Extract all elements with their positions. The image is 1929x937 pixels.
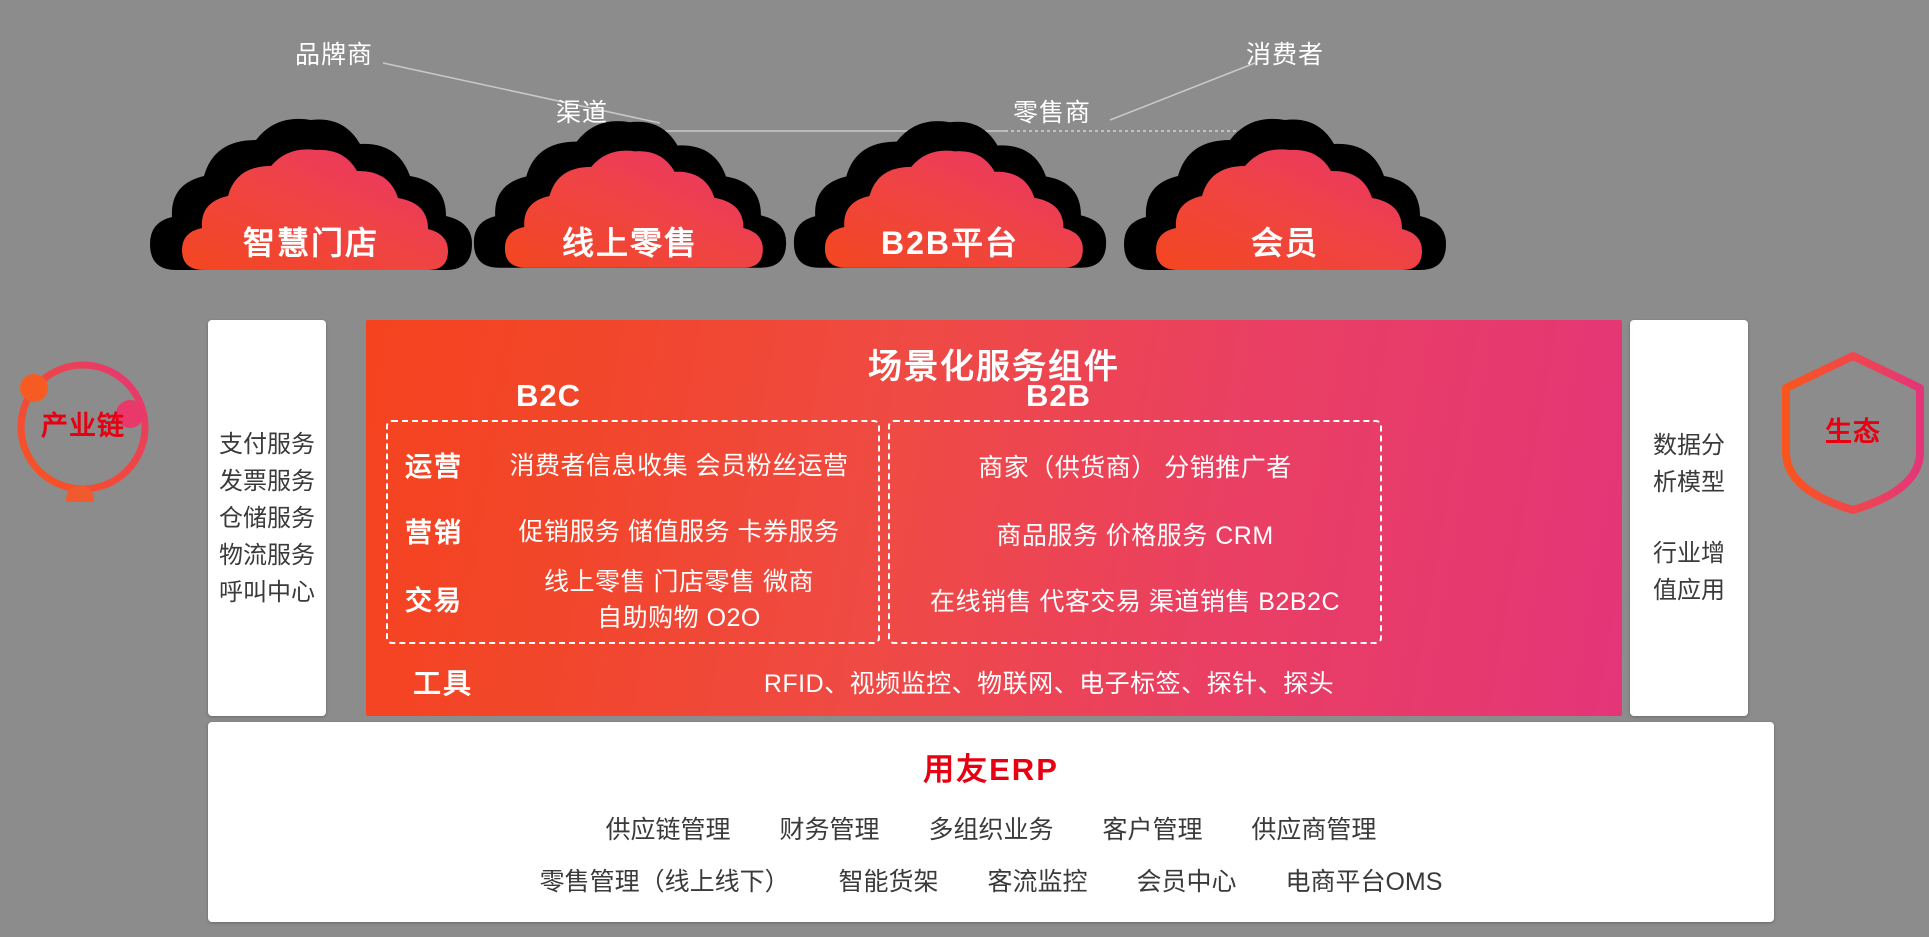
cloud-online-retail[interactable]: 线上零售 xyxy=(470,118,790,270)
erp-item: 财务管理 xyxy=(780,816,880,844)
ecosystem-label: 生态 xyxy=(1778,410,1928,449)
tools-row: 工具 RFID、视频监控、物联网、电子标签、探针、探头 xyxy=(388,662,1600,702)
erp-row-2: 零售管理（线上线下） 智能货架 客流监控 会员中心 电商平台OMS xyxy=(208,862,1774,898)
erp-panel: 用友ERP 供应链管理 财务管理 多组织业务 客户管理 供应商管理 零售管理（线… xyxy=(208,722,1774,922)
right-panel-item: 数据分 xyxy=(1630,427,1748,464)
right-panel-item: 值应用 xyxy=(1630,572,1748,609)
b2b-dashed-box: 商家（供货商） 分销推广者 商品服务 价格服务 CRM 在线销售 代客交易 渠道… xyxy=(888,420,1382,644)
cloud-shape xyxy=(1110,118,1460,270)
ecosystem-badge: 生态 xyxy=(1778,348,1928,516)
erp-item: 客流监控 xyxy=(988,868,1088,896)
left-panel-item: 发票服务 xyxy=(208,463,326,500)
b2c-row-values: 促销服务 储值服务 卡券服务 xyxy=(480,512,878,548)
b2b-line: 商品服务 价格服务 CRM xyxy=(890,516,1380,552)
erp-item: 供应商管理 xyxy=(1251,816,1376,844)
b2c-dashed-box: 运营 消费者信息收集 会员粉丝运营 营销 促销服务 储值服务 卡券服务 交易 线… xyxy=(386,420,880,644)
diagram-canvas: 品牌商 渠道 零售商 消费者 智慧门店 xyxy=(0,0,1929,937)
erp-item: 供应链管理 xyxy=(606,816,731,844)
erp-item: 智能货架 xyxy=(839,868,939,896)
tools-row-tag: 工具 xyxy=(388,662,498,702)
top-label-consumer: 消费者 xyxy=(1246,35,1324,71)
cloud-member[interactable]: 会员 xyxy=(1110,118,1460,270)
cloud-shape xyxy=(146,118,476,270)
top-label-brand-owner: 品牌商 xyxy=(295,35,373,71)
b2b-title: B2B xyxy=(1026,378,1091,414)
cloud-b2b-platform[interactable]: B2B平台 xyxy=(790,118,1110,270)
left-panel-item: 仓储服务 xyxy=(208,500,326,537)
left-panel-item: 呼叫中心 xyxy=(208,574,326,611)
scenario-service-components-block: 场景化服务组件 B2C 运营 消费者信息收集 会员粉丝运营 营销 促销服务 储值… xyxy=(366,320,1622,716)
cloud-smart-store[interactable]: 智慧门店 xyxy=(146,118,476,270)
left-panel-item: 物流服务 xyxy=(208,537,326,574)
cloud-shape xyxy=(470,118,790,270)
b2b-line: 在线销售 代客交易 渠道销售 B2B2C xyxy=(890,582,1380,618)
left-panel-item: 支付服务 xyxy=(208,426,326,463)
b2c-row-tag: 营销 xyxy=(388,511,480,550)
erp-item: 电商平台OMS xyxy=(1285,868,1442,896)
left-services-panel: 支付服务 发票服务 仓储服务 物流服务 呼叫中心 xyxy=(208,320,326,716)
erp-item: 多组织业务 xyxy=(928,816,1053,844)
b2c-row-transaction: 交易 线上零售 门店零售 微商 自助购物 O2O xyxy=(388,562,878,634)
right-panel-item: 行业增 xyxy=(1630,535,1748,572)
right-panel-item: 析模型 xyxy=(1630,464,1748,501)
b2c-row-values: 消费者信息收集 会员粉丝运营 xyxy=(480,446,878,482)
industry-chain-label: 产业链 xyxy=(8,404,158,443)
tools-row-values: RFID、视频监控、物联网、电子标签、探针、探头 xyxy=(498,664,1600,700)
erp-item: 客户管理 xyxy=(1102,816,1202,844)
b2c-row-tag: 交易 xyxy=(388,579,480,618)
erp-item: 会员中心 xyxy=(1136,868,1236,896)
industry-chain-badge: 产业链 xyxy=(8,352,158,502)
erp-item: 零售管理（线上线下） xyxy=(540,868,790,896)
b2c-title: B2C xyxy=(516,378,581,414)
b2c-row-operations: 运营 消费者信息收集 会员粉丝运营 xyxy=(388,438,878,490)
b2c-row-values: 线上零售 门店零售 微商 自助购物 O2O xyxy=(480,562,878,634)
b2b-line: 商家（供货商） 分销推广者 xyxy=(890,448,1380,484)
erp-title: 用友ERP xyxy=(208,744,1774,789)
panel-divider-space xyxy=(1630,501,1748,535)
b2c-row-values-line1: 线上零售 门店零售 微商 xyxy=(544,568,814,596)
cloud-shape xyxy=(790,118,1110,270)
b2c-row-values-line2: 自助购物 O2O xyxy=(480,598,878,634)
b2c-row-marketing: 营销 促销服务 储值服务 卡券服务 xyxy=(388,504,878,556)
right-analytics-panel: 数据分 析模型 行业增 值应用 xyxy=(1630,320,1748,716)
b2c-row-tag: 运营 xyxy=(388,445,480,484)
erp-row-1: 供应链管理 财务管理 多组织业务 客户管理 供应商管理 xyxy=(208,810,1774,846)
